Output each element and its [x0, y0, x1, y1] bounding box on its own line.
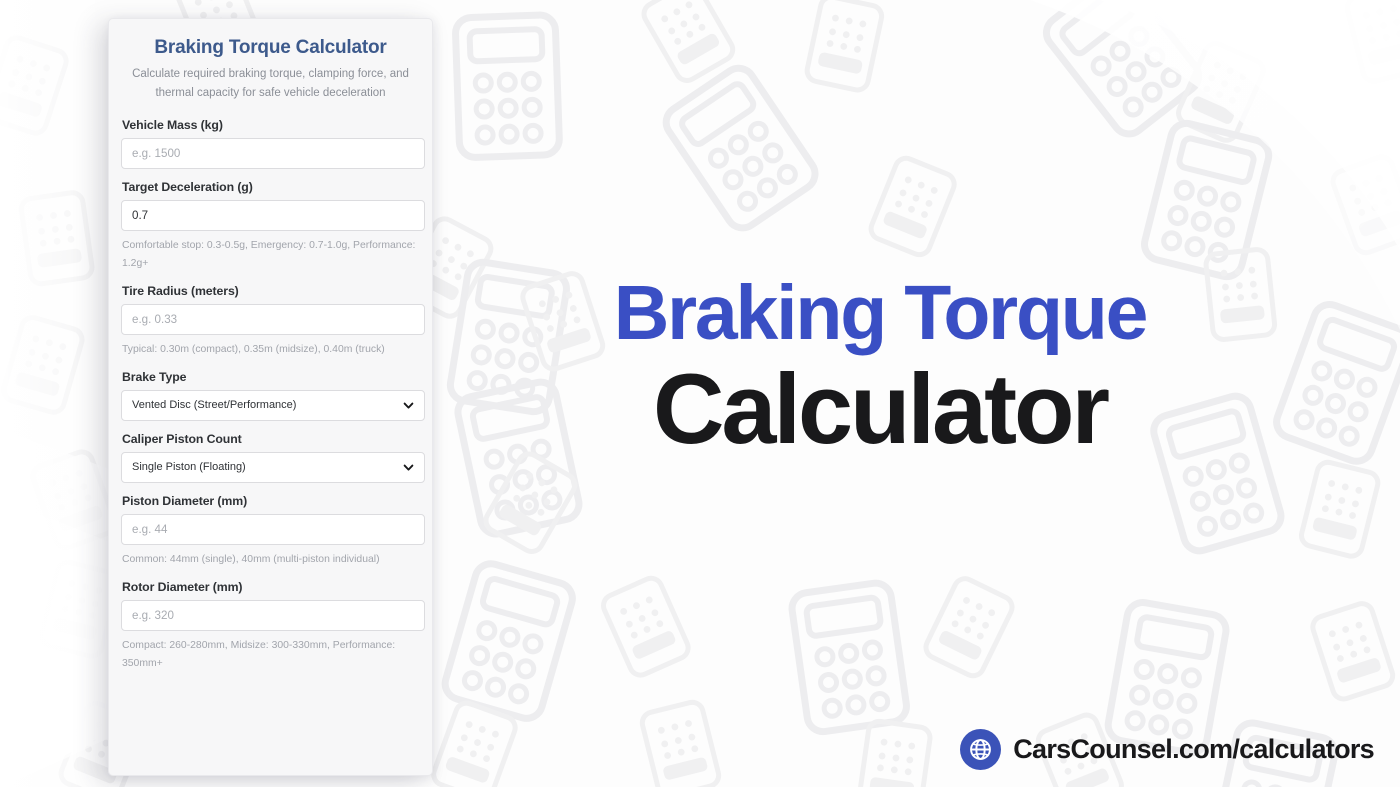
label-brake-type: Brake Type — [122, 370, 420, 384]
help-target-deceleration: Comfortable stop: 0.3-0.5g, Emergency: 0… — [122, 237, 419, 273]
card-title: Braking Torque Calculator — [121, 37, 420, 59]
hero-title-line-1: Braking Torque — [560, 276, 1200, 351]
help-tire-radius: Typical: 0.30m (compact), 0.35m (midsize… — [122, 341, 419, 359]
input-tire-radius[interactable]: e.g. 0.33 — [121, 304, 425, 335]
field-rotor-diameter: Rotor Diameter (mm) e.g. 320 Compact: 26… — [121, 580, 420, 673]
input-piston-diameter[interactable]: e.g. 44 — [121, 514, 425, 545]
brand-url-label: CarsCounsel.com/calculators — [1013, 734, 1374, 765]
globe-icon — [960, 729, 1001, 770]
label-target-deceleration: Target Deceleration (g) — [122, 180, 420, 194]
hero-title-line-2: Calculator — [560, 359, 1200, 458]
label-rotor-diameter: Rotor Diameter (mm) — [122, 580, 420, 594]
label-caliper-piston-count: Caliper Piston Count — [122, 432, 420, 446]
help-rotor-diameter: Compact: 260-280mm, Midsize: 300-330mm, … — [122, 637, 419, 673]
brand-footer[interactable]: CarsCounsel.com/calculators — [960, 729, 1374, 770]
field-target-deceleration: Target Deceleration (g) 0.7 Comfortable … — [121, 180, 420, 273]
field-vehicle-mass: Vehicle Mass (kg) e.g. 1500 — [121, 118, 420, 169]
select-caliper-piston-count-value: Single Piston (Floating) — [132, 461, 246, 473]
input-rotor-diameter[interactable]: e.g. 320 — [121, 600, 425, 631]
chevron-down-icon — [402, 461, 415, 474]
label-piston-diameter: Piston Diameter (mm) — [122, 494, 420, 508]
field-caliper-piston-count: Caliper Piston Count Single Piston (Floa… — [121, 432, 420, 483]
input-vehicle-mass[interactable]: e.g. 1500 — [121, 138, 425, 169]
select-caliper-piston-count[interactable]: Single Piston (Floating) — [121, 452, 425, 483]
field-piston-diameter: Piston Diameter (mm) e.g. 44 Common: 44m… — [121, 494, 420, 569]
braking-torque-calculator-card: Braking Torque Calculator Calculate requ… — [108, 18, 433, 776]
help-piston-diameter: Common: 44mm (single), 40mm (multi-pisto… — [122, 551, 419, 569]
select-brake-type-value: Vented Disc (Street/Performance) — [132, 399, 296, 411]
field-brake-type: Brake Type Vented Disc (Street/Performan… — [121, 370, 420, 421]
hero-title-block: Braking Torque Calculator — [560, 276, 1200, 458]
label-vehicle-mass: Vehicle Mass (kg) — [122, 118, 420, 132]
field-tire-radius: Tire Radius (meters) e.g. 0.33 Typical: … — [121, 284, 420, 359]
poster-canvas: Braking Torque Calculator Calculate requ… — [0, 0, 1400, 787]
chevron-down-icon — [402, 399, 415, 412]
select-brake-type[interactable]: Vented Disc (Street/Performance) — [121, 390, 425, 421]
input-target-deceleration[interactable]: 0.7 — [121, 200, 425, 231]
card-subtitle: Calculate required braking torque, clamp… — [125, 65, 416, 102]
label-tire-radius: Tire Radius (meters) — [122, 284, 420, 298]
